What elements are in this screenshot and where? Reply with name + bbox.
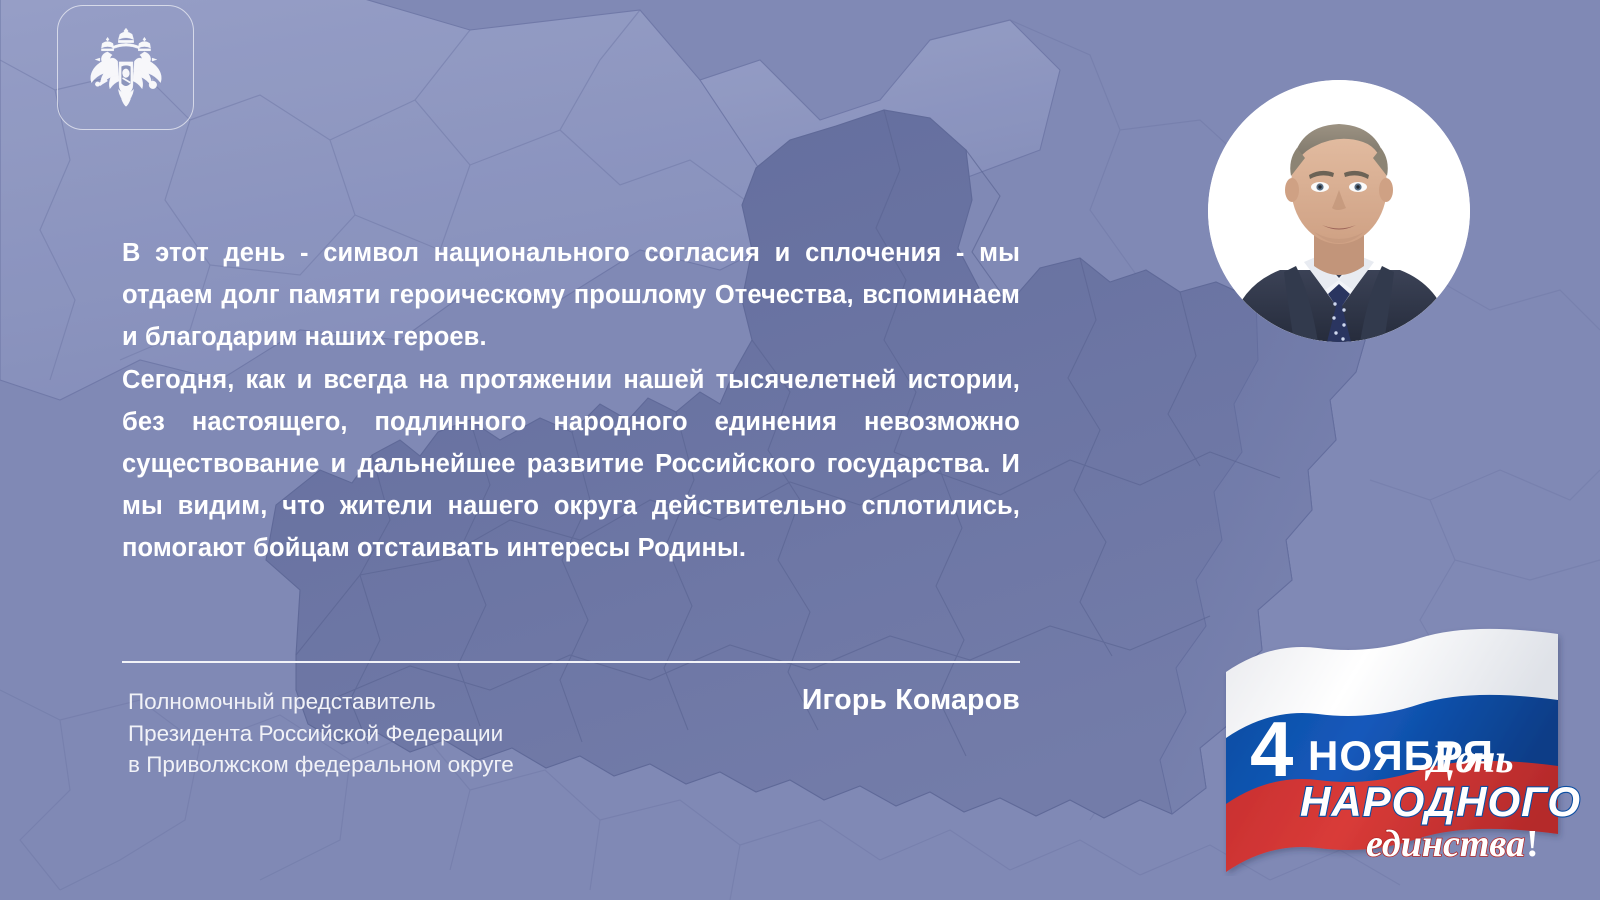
avatar: [1208, 80, 1470, 342]
divider: [122, 661, 1020, 663]
credit-line-3: в Приволжском федеральном округе: [128, 749, 748, 781]
flag-exclamation: !: [1526, 823, 1539, 865]
state-emblem-frame: [57, 5, 194, 130]
credit-line-2: Президента Российской Федерации: [128, 718, 748, 750]
quote-paragraph-2: Сегодня, как и всегда на протяжении наше…: [122, 359, 1020, 570]
double-headed-eagle-icon: [87, 25, 165, 111]
quote-text: В этот день - символ национального согла…: [122, 232, 1020, 570]
quote-paragraph-1: В этот день - символ национального согла…: [122, 232, 1020, 359]
flag-day-number: 4: [1250, 705, 1293, 793]
flag-word-unity: единства: [1366, 823, 1525, 865]
poster-canvas: В этот день - символ национального согла…: [0, 0, 1600, 900]
flag-word-national: НАРОДНОГО: [1300, 778, 1581, 825]
speaker-name: Игорь Комаров: [600, 684, 1020, 717]
holiday-flag-badge: 4 НОЯБРЯ День НАРОДНОГО единства !: [1196, 624, 1588, 876]
flag-word-day: День: [1424, 736, 1514, 781]
